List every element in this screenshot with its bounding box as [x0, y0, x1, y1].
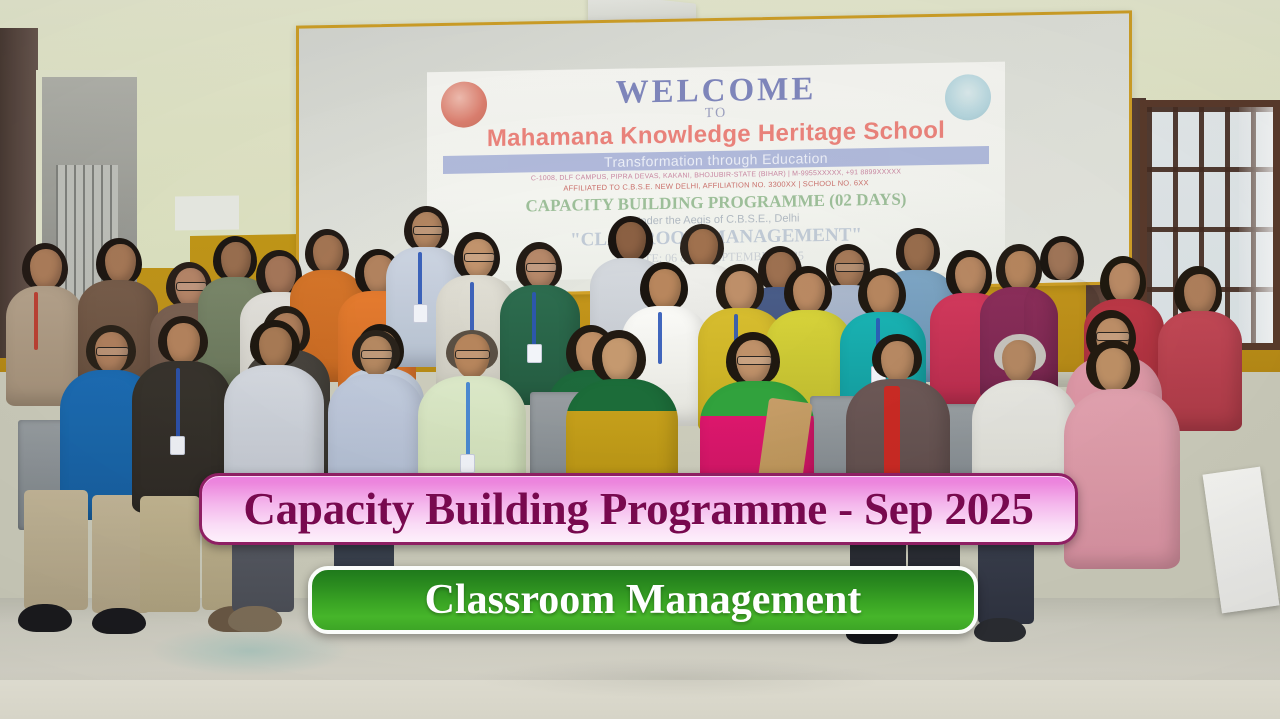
banner-secondary-text: Classroom Management	[425, 579, 862, 621]
screenshot-canvas: WELCOME TO Mahamana Knowledge Heritage S…	[0, 0, 1280, 719]
banner-secondary: Classroom Management	[308, 566, 978, 634]
banner-primary: Capacity Building Programme - Sep 2025	[199, 473, 1078, 545]
banner-primary-text: Capacity Building Programme - Sep 2025	[243, 487, 1033, 532]
